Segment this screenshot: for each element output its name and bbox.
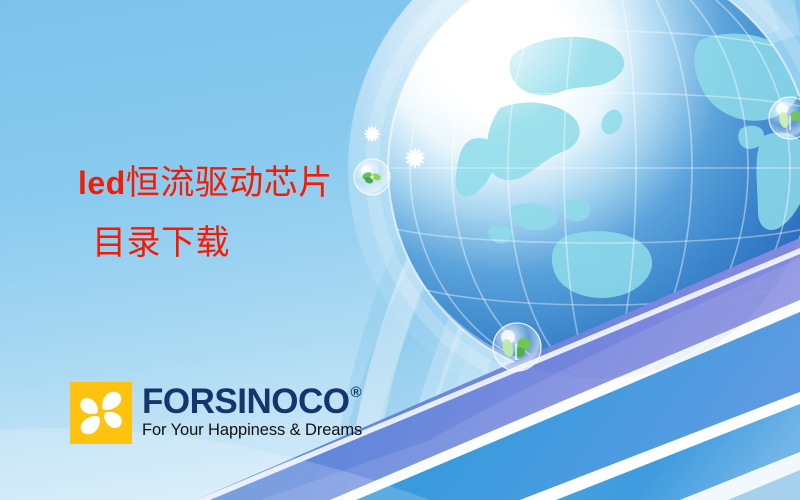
four-petal-pinwheel-icon xyxy=(70,382,132,444)
logo-text-group: FORSINOCO ® For Your Happiness & Dreams xyxy=(142,384,362,440)
banner-canvas: led恒流驱动芯片 目录下载 FORSINOCO xyxy=(0,0,800,500)
registered-trademark-icon: ® xyxy=(350,385,361,400)
brand-wordmark: FORSINOCO ® xyxy=(142,384,362,419)
bubble-leaf-icon xyxy=(493,323,541,371)
bubble-leaf-icon xyxy=(769,97,800,139)
brand-logo[interactable]: FORSINOCO ® For Your Happiness & Dreams xyxy=(70,382,362,444)
brand-tagline: For Your Happiness & Dreams xyxy=(142,421,362,440)
bubble-pinwheel-icon xyxy=(354,159,390,195)
brand-name: FORSINOCO xyxy=(142,384,349,419)
